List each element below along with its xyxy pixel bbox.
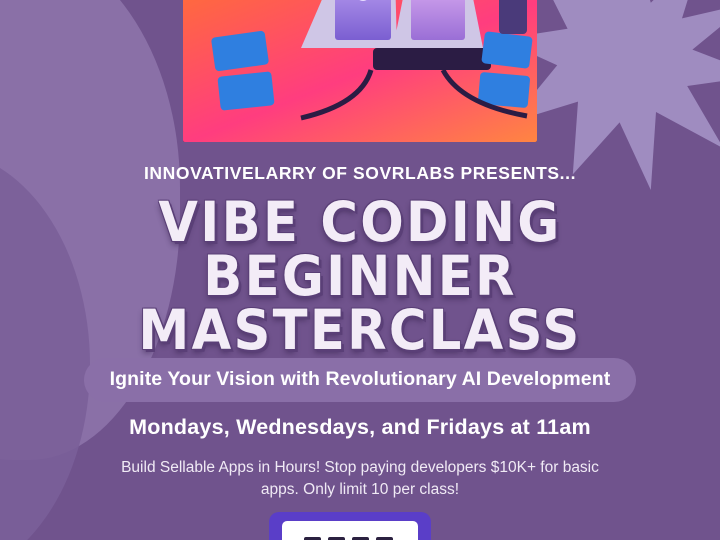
hero-illustration	[183, 0, 537, 142]
bottom-cta-badge-inner	[282, 521, 418, 540]
headline-line-1: VIBE CODING BEGINNER	[158, 190, 561, 308]
tagline-pill-wrapper: Ignite Your Vision with Revolutionary AI…	[0, 358, 720, 402]
headline-line-2: MASTERCLASS	[25, 304, 695, 358]
bottom-cta-badge[interactable]	[269, 512, 431, 540]
poster-canvas: INNOVATIVELARRY OF SOVRLABS PRESENTS... …	[0, 0, 720, 540]
schedule-text: Mondays, Wednesdays, and Fridays at 11am	[0, 415, 720, 440]
page-title: VIBE CODING BEGINNER MASTERCLASS	[25, 196, 695, 358]
description-text: Build Sellable Apps in Hours! Stop payin…	[110, 457, 610, 501]
presenter-line: INNOVATIVELARRY OF SOVRLABS PRESENTS...	[0, 163, 720, 184]
tagline-badge: Ignite Your Vision with Revolutionary AI…	[84, 358, 637, 402]
